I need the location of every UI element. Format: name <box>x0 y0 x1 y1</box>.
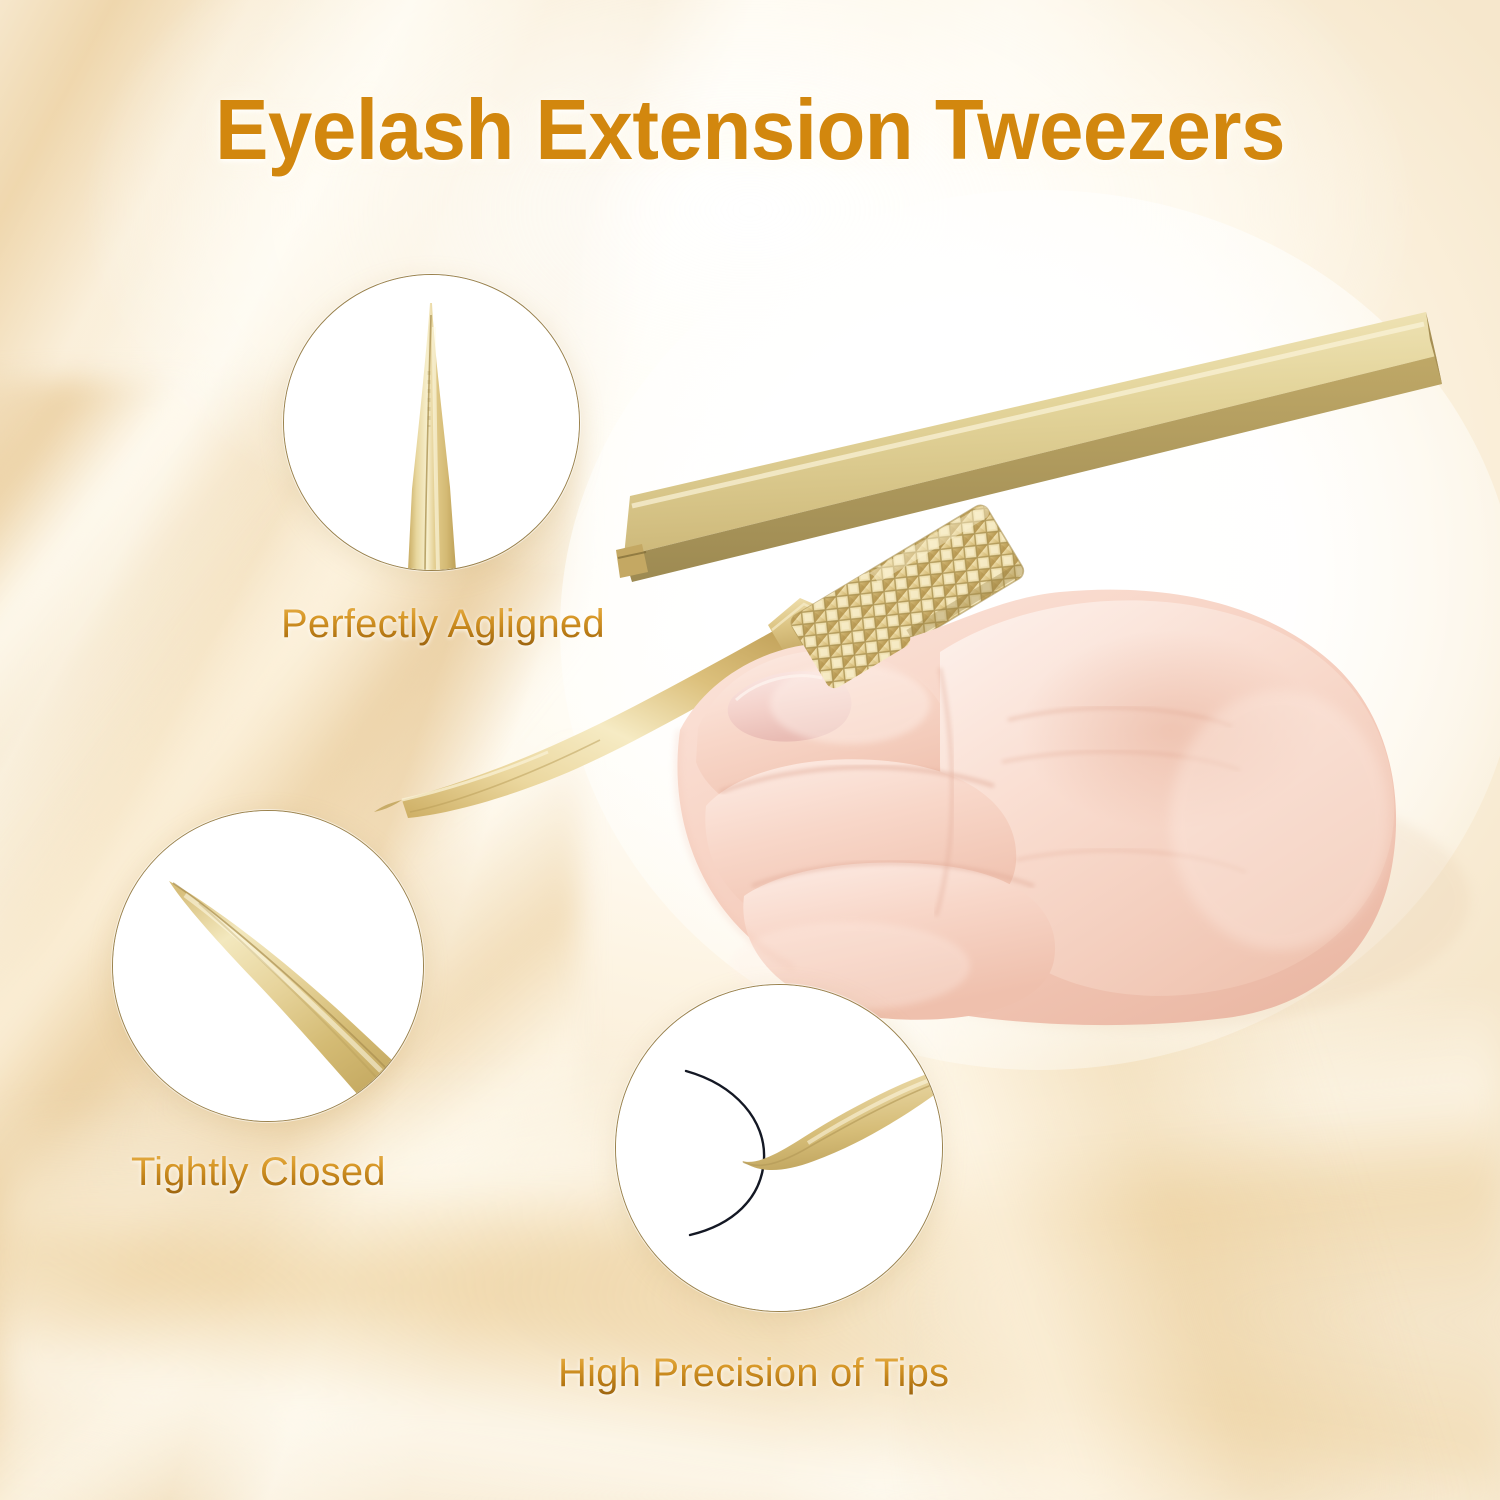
callout-circle-aligned <box>283 274 580 571</box>
tweezers-upper-bar <box>616 312 1442 582</box>
tweezer-tip-vertical-icon <box>284 275 579 570</box>
callout-caption-closed: Tightly Closed <box>131 1150 386 1195</box>
hand <box>677 590 1396 1025</box>
tweezer-tip-holding-lash-icon <box>616 985 942 1311</box>
callout-circle-precision <box>615 984 943 1312</box>
callout-caption-precision: High Precision of Tips <box>558 1351 949 1396</box>
callout-circle-closed <box>112 810 424 1122</box>
page-title: Eyelash Extension Tweezers <box>45 88 1455 173</box>
callout-caption-aligned: Perfectly Agligned <box>281 602 605 647</box>
product-marketing-image: Eyelash Extension Tweezers <box>0 0 1500 1500</box>
tweezer-tip-diagonal-icon <box>113 811 423 1121</box>
